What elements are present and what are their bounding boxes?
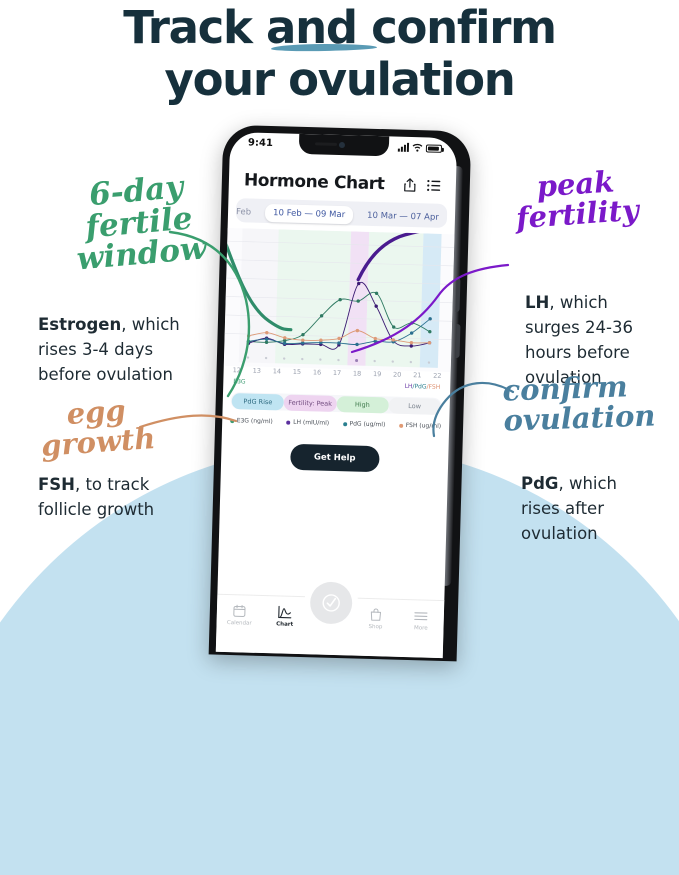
tab-add-test[interactable] xyxy=(308,606,353,607)
annotation-script-fertile-window: 6-day fertile window xyxy=(70,171,208,277)
xtick-21: 21 xyxy=(413,371,422,379)
add-test-button[interactable] xyxy=(309,581,352,624)
status-indicators xyxy=(398,143,442,153)
xtick-17: 17 xyxy=(333,369,342,377)
xtick-18: 18 xyxy=(353,369,362,377)
annotation-pdg-term: PdG xyxy=(521,474,558,493)
legend-label-e3g: E3G (ng/ml) xyxy=(237,417,273,425)
legend-label-lh: LH (mIU/ml) xyxy=(293,419,329,427)
axis-caption-right: LH/PdG/FSH xyxy=(405,383,441,391)
signal-icon xyxy=(398,143,409,152)
axis-caption-left: E3G xyxy=(233,378,245,385)
annotation-estrogen-term: Estrogen xyxy=(38,315,121,334)
legend-item-e3g[interactable]: E3G (ng/ml) xyxy=(230,417,273,425)
legend-label-pdg: PdG (ug/ml) xyxy=(349,420,385,428)
bottom-tab-bar: Calendar Chart xyxy=(216,594,445,658)
tab-calendar-label: Calendar xyxy=(227,620,252,627)
app-header: Hormone Chart xyxy=(229,170,456,196)
tab-chart[interactable]: Chart xyxy=(262,605,308,628)
hormone-chart[interactable] xyxy=(224,228,455,372)
camera-icon xyxy=(339,142,345,148)
chart-axis-captions: E3G LH/PdG/FSH xyxy=(223,378,450,391)
legend-label-fsh: FSH (ug/ml) xyxy=(406,422,442,430)
axis-caption-fsh: /FSH xyxy=(426,384,440,391)
annotation-body-estrogen: Estrogen, which rises 3-4 days before ov… xyxy=(38,287,180,387)
wifi-icon xyxy=(412,143,423,152)
annotation-body-fsh: FSH, to track follicle growth xyxy=(38,447,154,522)
xtick-22: 22 xyxy=(433,372,442,380)
legend-item-fsh[interactable]: FSH (ug/ml) xyxy=(399,422,441,430)
xtick-13: 13 xyxy=(253,367,262,375)
calendar-icon xyxy=(233,604,246,617)
share-icon[interactable] xyxy=(404,178,416,192)
annotation-fsh-term: FSH xyxy=(38,475,75,494)
poster-canvas: Track and confirm your ovulation 6-day f… xyxy=(0,0,679,645)
status-badge-high[interactable]: High xyxy=(336,395,389,412)
annotation-body-pdg: PdG, which rises after ovulation xyxy=(521,446,617,546)
status-pill-row: PdG Rise Fertility: Peak High Low xyxy=(231,392,442,415)
date-tab-prev[interactable]: Feb xyxy=(234,203,260,222)
chart-legend: E3G (ng/ml) LH (mIU/ml) PdG (ug/ml) FSH … xyxy=(222,417,449,430)
tab-shop-label: Shop xyxy=(368,624,382,630)
axis-caption-pdg: /PdG xyxy=(412,383,426,390)
xtick-12: 12 xyxy=(233,366,242,374)
tab-calendar[interactable]: Calendar xyxy=(217,604,263,627)
chart-icon xyxy=(278,605,292,618)
legend-dot-fsh xyxy=(399,423,403,427)
tab-shop[interactable]: Shop xyxy=(353,608,399,631)
date-tab-current[interactable]: 10 Feb — 09 Mar xyxy=(265,204,353,224)
legend-dot-pdg xyxy=(343,422,347,426)
tab-more-label: More xyxy=(414,625,428,631)
status-badge-low[interactable]: Low xyxy=(388,397,441,414)
xtick-20: 20 xyxy=(393,371,402,379)
legend-dot-e3g xyxy=(230,419,234,423)
xtick-15: 15 xyxy=(293,368,302,376)
get-help-button[interactable]: Get Help xyxy=(290,444,380,472)
add-test-icon xyxy=(321,594,339,612)
xtick-14: 14 xyxy=(273,367,282,375)
headline-line-2: your ovulation xyxy=(0,54,679,106)
xtick-19: 19 xyxy=(373,370,382,378)
legend-item-pdg[interactable]: PdG (ug/ml) xyxy=(343,420,385,428)
chart-band-4 xyxy=(420,233,442,367)
page-title: Track and confirm your ovulation xyxy=(0,2,679,106)
battery-icon xyxy=(426,144,442,152)
chart-band-0 xyxy=(239,228,279,363)
annotation-script-confirm-ovulation: confirm ovulation xyxy=(502,371,656,435)
legend-dot-lh xyxy=(287,420,291,424)
status-time: 9:41 xyxy=(248,137,273,149)
bag-icon xyxy=(370,608,382,621)
status-badge-fertility-peak[interactable]: Fertility: Peak xyxy=(284,394,337,411)
annotation-lh-term: LH xyxy=(525,293,549,312)
phone-notch xyxy=(299,134,390,157)
chart-band-2 xyxy=(347,231,369,365)
status-badge-pdg-rise[interactable]: PdG Rise xyxy=(232,393,285,410)
phone-screen: 9:41 Hormone Chart xyxy=(216,132,457,658)
app-title: Hormone Chart xyxy=(244,170,404,194)
tab-more[interactable]: More xyxy=(398,609,444,632)
speaker-icon xyxy=(315,142,337,146)
chart-plot xyxy=(224,228,455,372)
annotation-script-peak-fertility: peak fertility xyxy=(513,166,640,234)
list-icon[interactable] xyxy=(427,179,441,191)
legend-item-lh[interactable]: LH (mIU/ml) xyxy=(287,419,330,427)
header-actions xyxy=(404,178,441,193)
date-range-tabs: Feb 10 Feb — 09 Mar 10 Mar — 07 Apr xyxy=(228,200,456,230)
menu-icon xyxy=(414,609,428,622)
date-tab-next[interactable]: 10 Mar — 07 Apr xyxy=(359,207,447,227)
phone-mockup: 9:41 Hormone Chart xyxy=(216,128,464,658)
xtick-16: 16 xyxy=(313,368,322,376)
chart-band-3 xyxy=(365,232,423,367)
tab-chart-label: Chart xyxy=(276,621,293,627)
